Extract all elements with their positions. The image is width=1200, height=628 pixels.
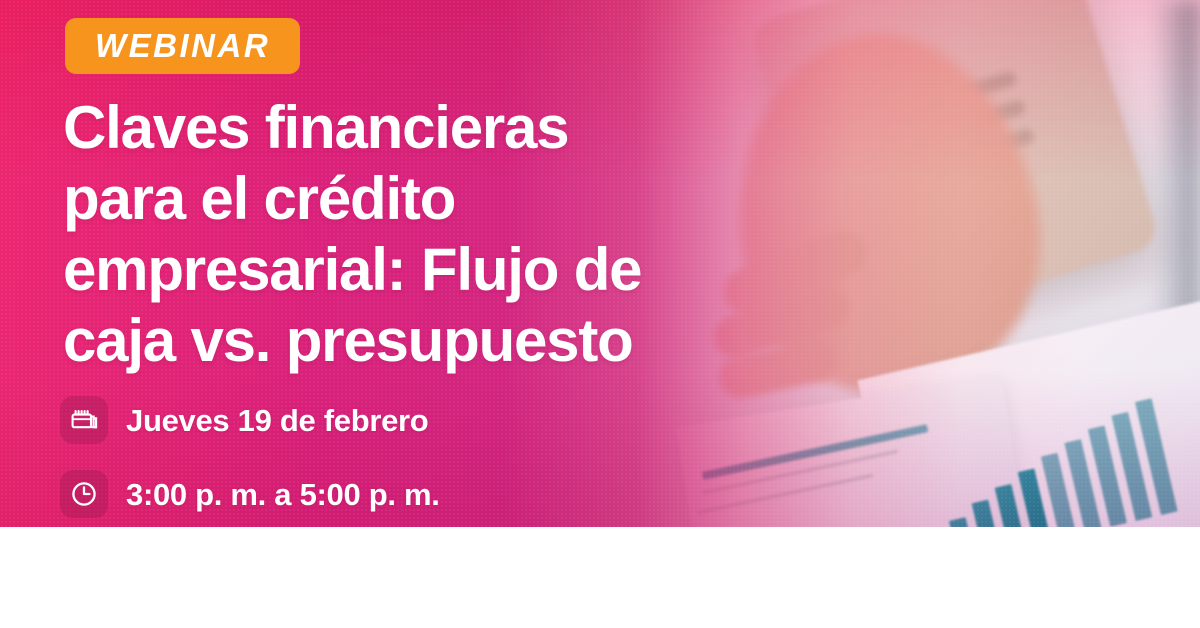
webinar-badge: WEBINAR <box>65 18 300 74</box>
hero-content: WEBINAR Claves financieras para el crédi… <box>0 0 760 527</box>
clock-icon <box>60 470 108 518</box>
hero-section: WEBINAR Claves financieras para el crédi… <box>0 0 1200 527</box>
page-title: Claves financieras para el crédito empre… <box>63 92 853 376</box>
webinar-banner: WEBINAR Claves financieras para el crédi… <box>0 0 1200 628</box>
event-time-text: 3:00 p. m. a 5:00 p. m. <box>126 479 440 510</box>
event-time-row: 3:00 p. m. a 5:00 p. m. <box>60 470 440 518</box>
event-date-row: Jueves 19 de febrero <box>60 396 428 444</box>
calendar-icon <box>60 396 108 444</box>
event-date-text: Jueves 19 de febrero <box>126 405 428 436</box>
footer-bar: PERÚ Ministerio de la Producción ¡EL PER… <box>0 527 1200 628</box>
